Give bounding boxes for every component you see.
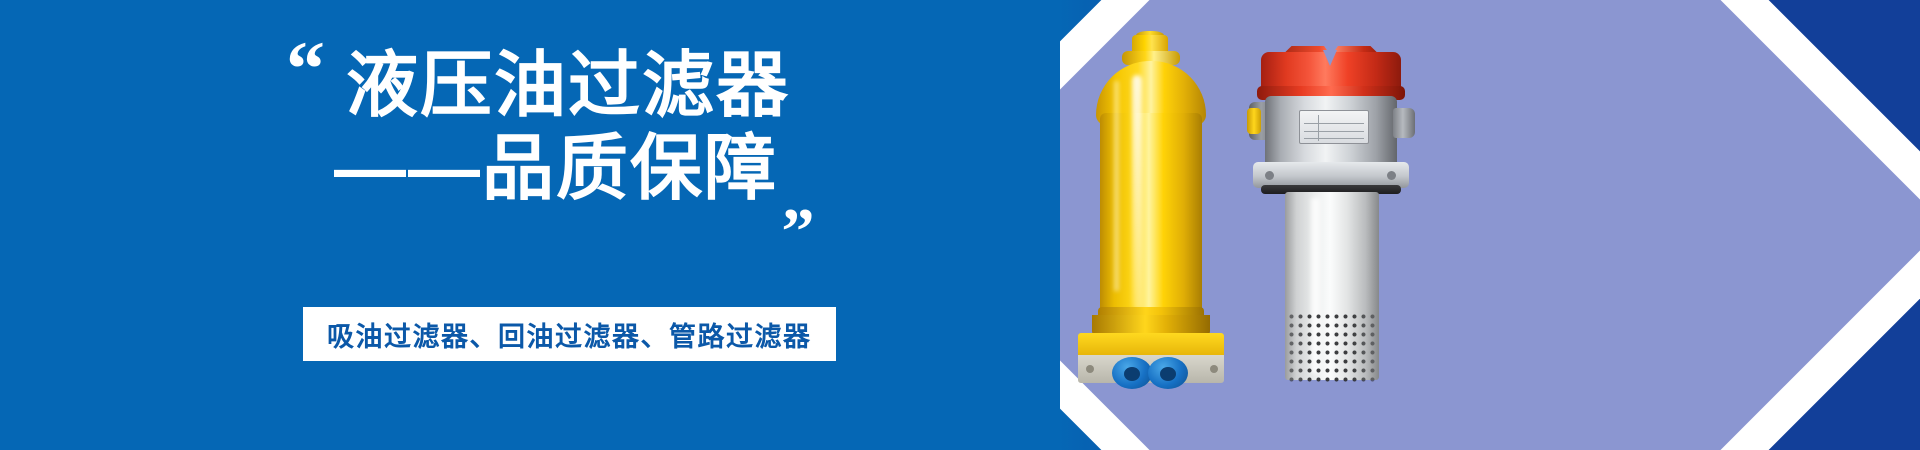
opening-quote-icon: “ <box>286 30 321 108</box>
product-image-suction-filter <box>1070 35 1230 380</box>
headline-line-1: 液压油过滤器 <box>346 50 926 123</box>
subtitle-text: 吸油过滤器、回油过滤器、管路过滤器 <box>327 315 812 354</box>
subtitle-box: 吸油过滤器、回油过滤器、管路过滤器 <box>303 307 836 361</box>
product-nameplate <box>1299 110 1369 144</box>
headline-line-2-row: ——品质保障„ <box>334 133 926 231</box>
promo-banner: “ 液压油过滤器 ——品质保障„ 吸油过滤器、回油过滤器、管路过滤器 <box>0 0 1920 450</box>
closing-quote-icon: „ <box>782 161 811 234</box>
headline-block: “ 液压油过滤器 ——品质保障„ <box>286 24 926 232</box>
perforated-strainer <box>1285 310 1379 382</box>
headline-line-2: ——品质保障 <box>334 129 778 209</box>
product-image-return-line-filter <box>1245 52 1420 382</box>
